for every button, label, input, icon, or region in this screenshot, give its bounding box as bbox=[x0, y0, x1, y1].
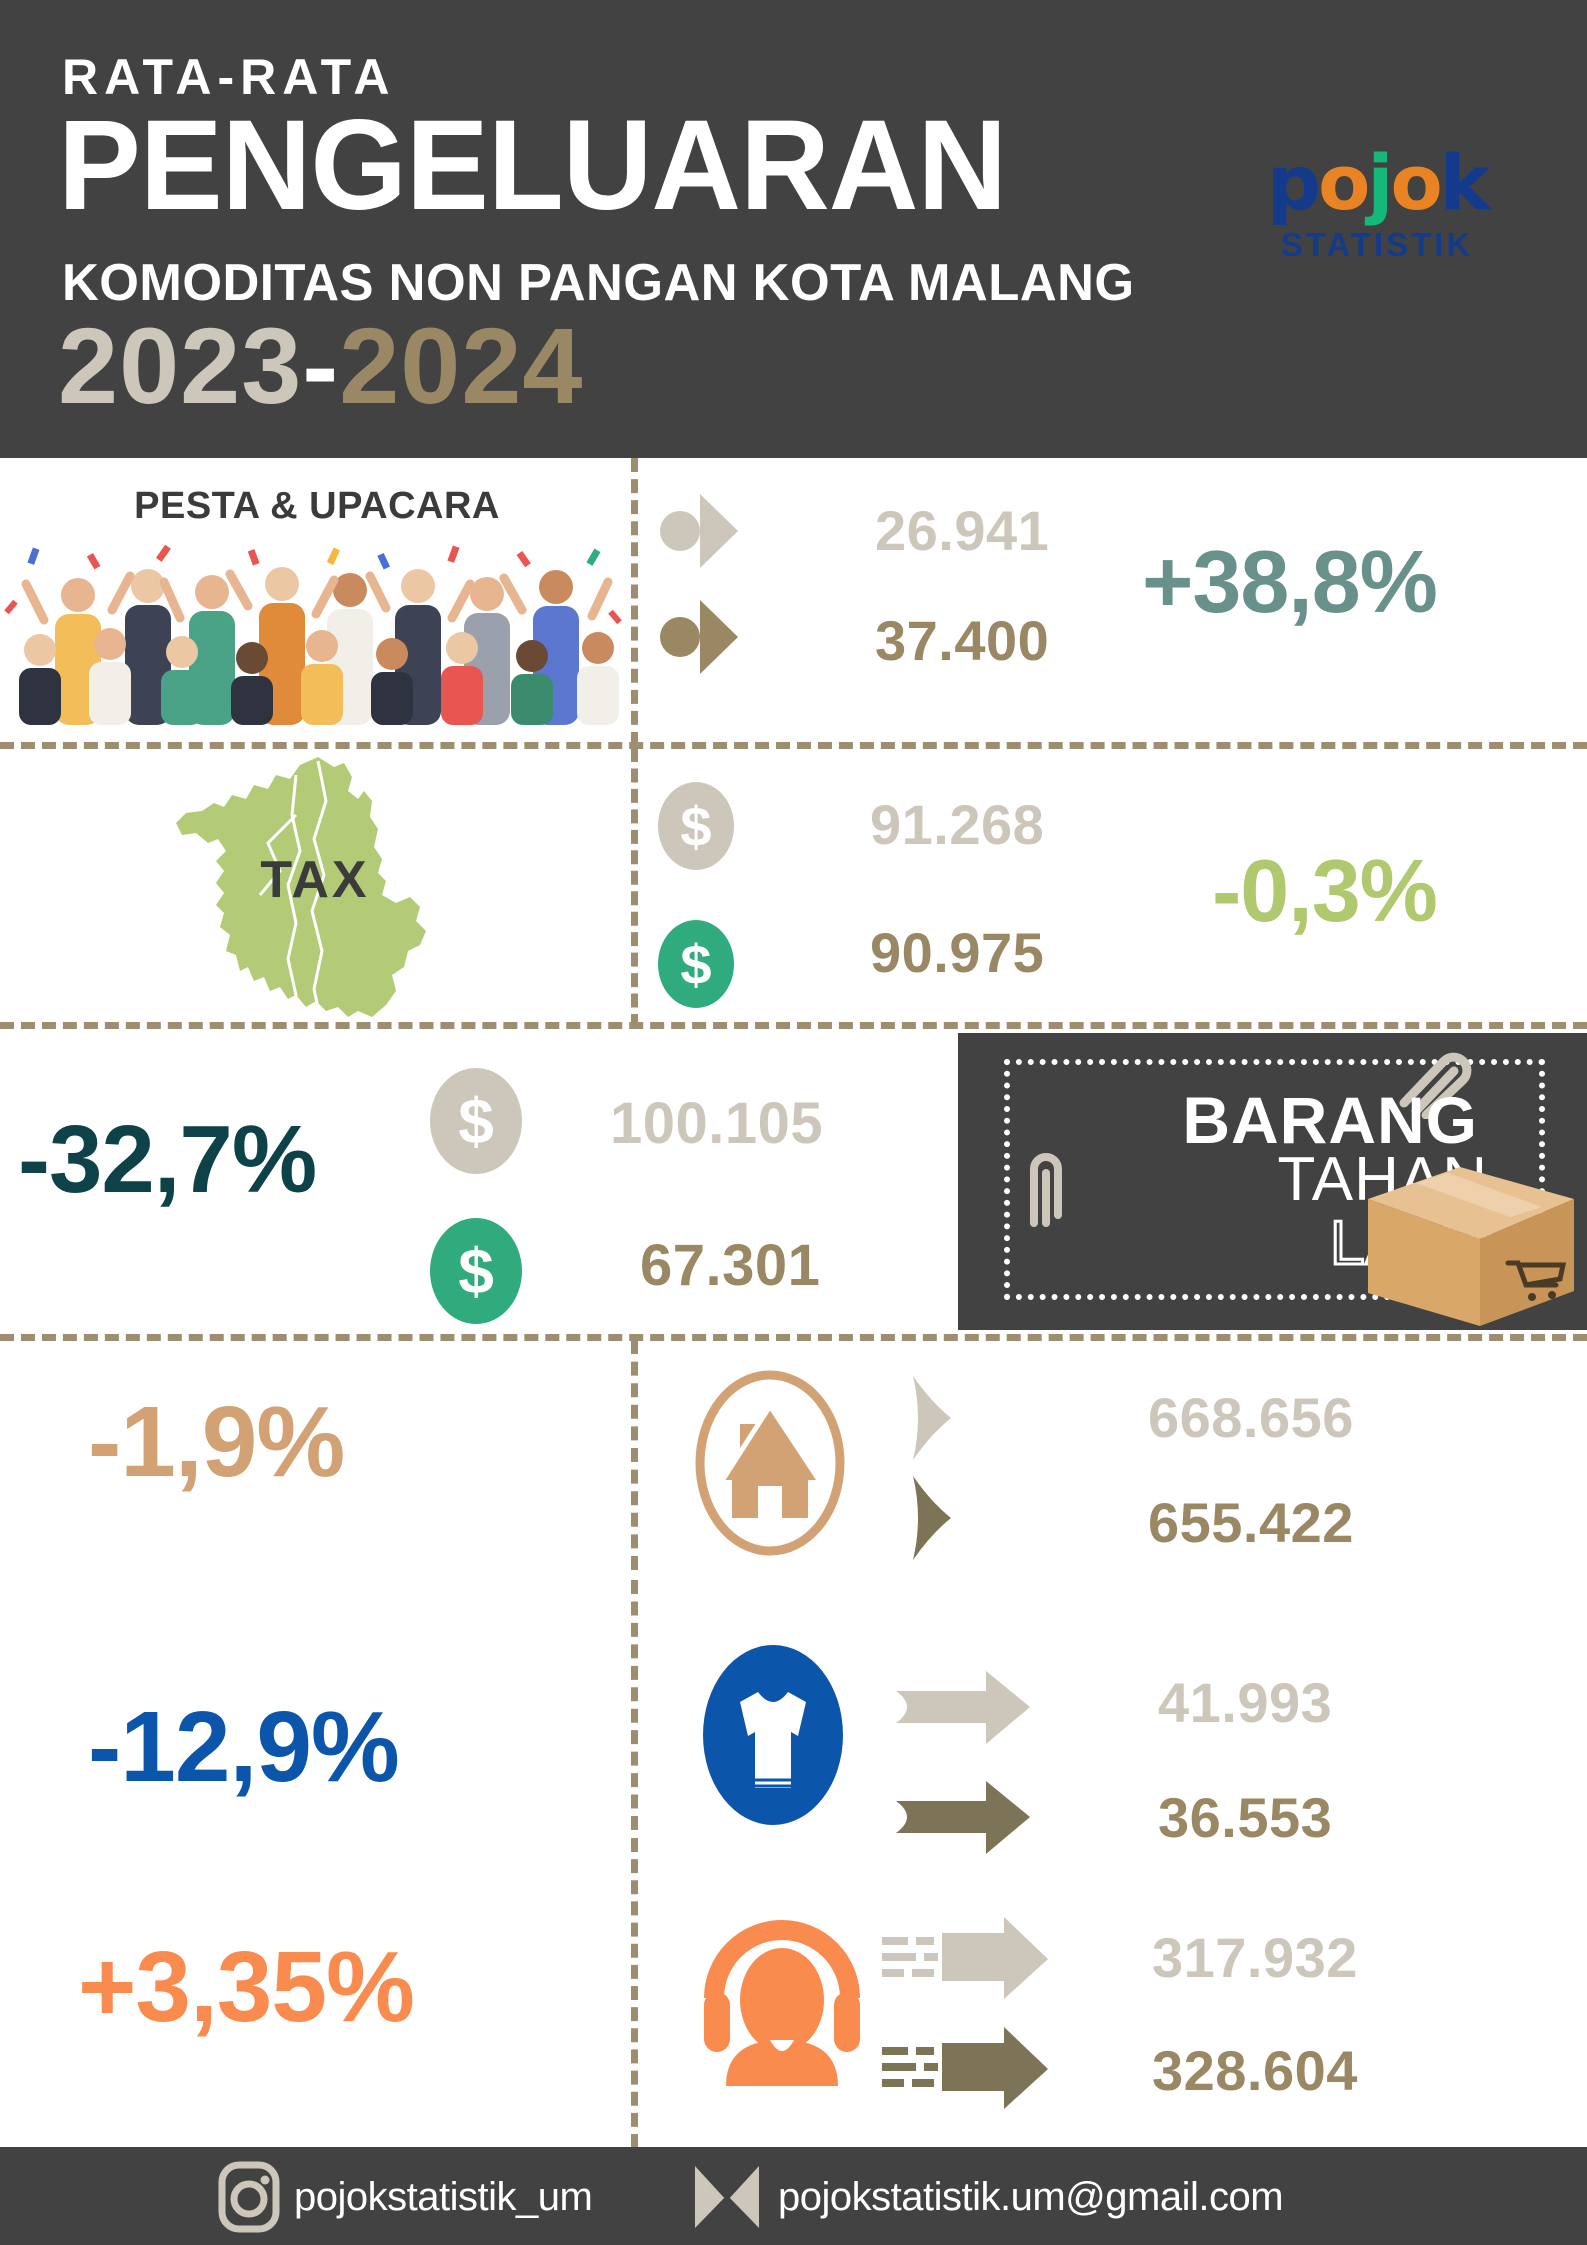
divider-v-row6 bbox=[631, 1838, 638, 2148]
value-2024-row1: 37.400 bbox=[875, 608, 1049, 673]
row-label-pesta-upacara: PESTA & UPACARA bbox=[112, 485, 522, 528]
page-title: PENGELUARAN bbox=[58, 102, 1006, 230]
house-icon bbox=[690, 1368, 850, 1558]
marker-block-old-row5 bbox=[890, 1665, 1040, 1750]
logo-letter-k: k bbox=[1440, 138, 1488, 227]
logo-letter-o2: o bbox=[1390, 138, 1439, 227]
barang-title-line1: BARANG bbox=[1118, 1089, 1478, 1152]
crowd-illustration-icon bbox=[0, 540, 630, 725]
value-2023-row3: 100.105 bbox=[610, 1090, 823, 1157]
paperclip-icon-left bbox=[1014, 1143, 1074, 1233]
envelope-icon bbox=[690, 2161, 764, 2233]
marker-triangle-old-row4 bbox=[905, 1372, 1015, 1464]
marker-triangle-new-row4 bbox=[905, 1472, 1015, 1564]
change-pct-row2: -0,3% bbox=[1212, 840, 1437, 942]
value-2024-row3: 67.301 bbox=[640, 1232, 820, 1299]
marker-chevron-old-row1 bbox=[660, 492, 780, 575]
coin-new-row2: $ bbox=[658, 920, 734, 1008]
divider-h-row3 bbox=[0, 1334, 1587, 1341]
email-contact[interactable]: pojokstatistik.um@gmail.com bbox=[690, 2161, 1283, 2233]
row-label-tax: TAX bbox=[120, 747, 510, 1012]
barang-tahan-lama-panel: BARANG TAHAN LAMA bbox=[958, 1033, 1587, 1330]
change-pct-row1: +38,8% bbox=[1142, 531, 1437, 633]
change-pct-row6: +3,35% bbox=[78, 1930, 414, 2045]
logo-letter-j: j bbox=[1367, 138, 1390, 227]
marker-chevron-new-row1 bbox=[660, 598, 780, 681]
value-2023-row6: 317.932 bbox=[1152, 1925, 1358, 1990]
logo-subtitle: STATISTIK bbox=[1238, 226, 1516, 264]
divider-v-row5 bbox=[631, 1580, 638, 1830]
page-header: RATA-RATA PENGELUARAN KOMODITAS NON PANG… bbox=[0, 0, 1587, 458]
marker-speed-new-row6 bbox=[880, 2025, 1060, 2115]
divider-v-row4 bbox=[631, 1340, 638, 1570]
marker-block-new-row5 bbox=[890, 1775, 1040, 1860]
value-2024-row4: 655.422 bbox=[1148, 1490, 1354, 1555]
email-address: pojokstatistik.um@gmail.com bbox=[778, 2175, 1283, 2220]
divider-h-row2 bbox=[0, 1022, 1587, 1029]
year-dash: - bbox=[302, 305, 339, 426]
change-pct-row4: -1,9% bbox=[88, 1385, 344, 1500]
malang-map-icon: TAX bbox=[120, 755, 510, 1020]
change-pct-row3: -32,7% bbox=[18, 1105, 316, 1215]
pojok-statistik-logo: pojok STATISTIK bbox=[1238, 140, 1516, 270]
value-2023-row1: 26.941 bbox=[875, 498, 1049, 563]
marker-speed-old-row6 bbox=[880, 1915, 1060, 2005]
page-subtitle: KOMODITAS NON PANGAN KOTA MALANG bbox=[62, 253, 1135, 313]
divider-v-row1 bbox=[631, 458, 638, 746]
cardboard-box-icon bbox=[1360, 1151, 1587, 1330]
tshirt-icon bbox=[688, 1640, 858, 1830]
change-pct-row5: -12,9% bbox=[88, 1690, 399, 1805]
divider-v-row2 bbox=[631, 748, 638, 1028]
year-from: 2023 bbox=[58, 305, 302, 426]
page-footer: pojokstatistik_um pojokstatistik.um@gmai… bbox=[0, 2147, 1587, 2245]
value-2024-row2: 90.975 bbox=[870, 920, 1044, 985]
instagram-contact[interactable]: pojokstatistik_um bbox=[218, 2161, 592, 2233]
logo-wordmark: pojok bbox=[1238, 140, 1516, 226]
year-to: 2024 bbox=[339, 305, 583, 426]
coin-old-row2: $ bbox=[658, 782, 734, 870]
headset-person-icon bbox=[692, 1900, 872, 2090]
value-2023-row2: 91.268 bbox=[870, 792, 1044, 857]
logo-letter-p: p bbox=[1267, 138, 1318, 227]
instagram-icon bbox=[218, 2161, 280, 2233]
year-range: 2023-2024 bbox=[58, 312, 584, 420]
value-2024-row5: 36.553 bbox=[1158, 1785, 1332, 1850]
instagram-handle: pojokstatistik_um bbox=[294, 2175, 592, 2220]
value-2023-row4: 668.656 bbox=[1148, 1385, 1354, 1450]
value-2024-row6: 328.604 bbox=[1152, 2038, 1358, 2103]
coin-old-row3: $ bbox=[430, 1068, 522, 1174]
value-2023-row5: 41.993 bbox=[1158, 1670, 1332, 1735]
coin-new-row3: $ bbox=[430, 1218, 522, 1324]
logo-letter-o1: o bbox=[1318, 138, 1367, 227]
